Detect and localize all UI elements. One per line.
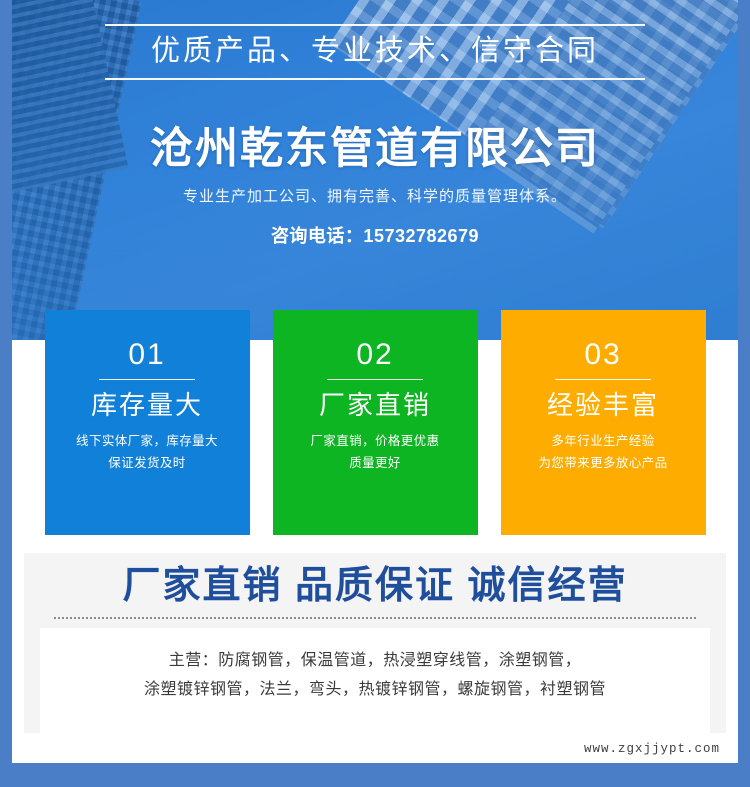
- hero-subtitle: 专业生产加工公司、拥有完善、科学的质量管理体系。: [183, 185, 567, 206]
- feature-card-3: 03 经验丰富 多年行业生产经验 为您带来更多放心产品: [501, 310, 706, 535]
- company-name-title: 沧州乾东管道有限公司: [150, 125, 600, 174]
- main-slogan: 厂家直销 品质保证 诚信经营: [40, 565, 710, 609]
- products-box: 主营：防腐钢管，保温管道，热浸塑穿线管，涂塑钢管， 涂塑镀锌钢管，法兰，弯头，热…: [40, 628, 710, 734]
- card-number: 01: [128, 340, 165, 370]
- tagline-rule-box: 优质产品、专业技术、信守合同: [105, 24, 645, 80]
- card-title: 厂家直销: [319, 391, 431, 421]
- feature-card-2: 02 厂家直销 厂家直销，价格更优惠 质量更好: [273, 310, 478, 535]
- contact-phone: 咨询电话：15732782679: [271, 222, 479, 248]
- website-watermark: www.zgxjjypt.com: [580, 741, 724, 757]
- feature-card-1: 01 库存量大 线下实体厂家，库存量大 保证发货及时: [45, 310, 250, 535]
- poster-inner-frame: 优质产品、专业技术、信守合同 沧州乾东管道有限公司 专业生产加工公司、拥有完善、…: [12, 0, 738, 763]
- card-description-line-2: 为您带来更多放心产品: [538, 453, 667, 475]
- hero-tagline: 优质产品、专业技术、信守合同: [111, 36, 639, 66]
- products-line-2: 涂塑镀锌钢管，法兰，弯头，热镀锌钢管，螺旋钢管，衬塑钢管: [144, 675, 606, 705]
- lower-panel: 厂家直销 品质保证 诚信经营 主营：防腐钢管，保温管道，热浸塑穿线管，涂塑钢管，…: [24, 553, 726, 733]
- hero-content: 优质产品、专业技术、信守合同 沧州乾东管道有限公司 专业生产加工公司、拥有完善、…: [12, 0, 738, 340]
- card-description-line-2: 质量更好: [349, 453, 401, 475]
- hero-banner: 优质产品、专业技术、信守合同 沧州乾东管道有限公司 专业生产加工公司、拥有完善、…: [12, 0, 738, 340]
- card-divider: [327, 379, 423, 380]
- card-number: 02: [356, 340, 393, 370]
- card-description-line-1: 线下实体厂家，库存量大: [76, 431, 218, 453]
- card-description-line-1: 多年行业生产经验: [551, 431, 654, 453]
- card-title: 库存量大: [91, 391, 203, 421]
- feature-cards: 01 库存量大 线下实体厂家，库存量大 保证发货及时 02 厂家直销 厂家直销，…: [12, 310, 738, 535]
- card-description-line-2: 保证发货及时: [108, 453, 185, 475]
- promotional-poster: 优质产品、专业技术、信守合同 沧州乾东管道有限公司 专业生产加工公司、拥有完善、…: [0, 0, 750, 787]
- products-line-1: 主营：防腐钢管，保温管道，热浸塑穿线管，涂塑钢管，: [169, 646, 582, 676]
- card-divider: [99, 379, 195, 380]
- card-divider: [555, 379, 651, 380]
- card-number: 03: [584, 340, 621, 370]
- card-description-line-1: 厂家直销，价格更优惠: [310, 431, 439, 453]
- dotted-divider: [54, 617, 696, 619]
- card-title: 经验丰富: [547, 391, 659, 421]
